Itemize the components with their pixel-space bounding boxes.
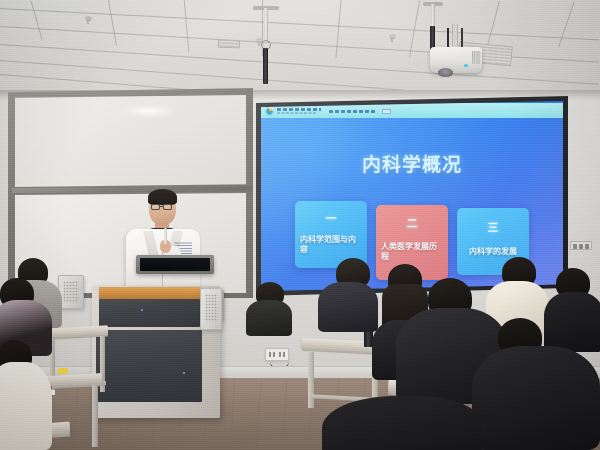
- student-body: [246, 300, 292, 336]
- projector-vent-grill: [472, 51, 481, 64]
- org-name-secondary-text: [329, 110, 375, 113]
- air-vent: [218, 40, 240, 49]
- lectern-front-panel-lower: [96, 330, 202, 402]
- university-hospital-logo-icon: [265, 107, 274, 116]
- org-name-text: [277, 108, 321, 114]
- light-switch-bank[interactable]: [570, 241, 592, 250]
- projector-lens-icon: [438, 68, 453, 77]
- slide-card-3-numeral: 三: [462, 219, 524, 235]
- lectern-indicator-led: [183, 372, 185, 374]
- student-body: [472, 346, 600, 450]
- student-body: [0, 362, 52, 450]
- org-badge: [382, 109, 391, 114]
- ceiling-mount-pole: [264, 8, 268, 42]
- projector-power-led: [464, 64, 468, 67]
- microphone[interactable]: [164, 228, 167, 244]
- student-body: [544, 292, 600, 352]
- whiteboard-glare: [120, 104, 178, 118]
- ceiling-mount-rod: [263, 48, 268, 84]
- presenter-glasses: [163, 204, 172, 210]
- lectern-indicator-led: [141, 309, 143, 311]
- podium-monitor-screen: [140, 258, 210, 271]
- student-body: [318, 282, 378, 332]
- presenter-hair: [148, 189, 177, 205]
- lectern-front-panel-upper: [99, 299, 200, 327]
- slide-card-1-text: 内科学范围与内容: [300, 235, 362, 255]
- slide-card-3-text: 内科学的发展: [462, 247, 524, 257]
- slide-card-2-text: 人类医学发展历程: [381, 242, 443, 262]
- suspended-ceiling: [0, 0, 600, 96]
- slide-card-1-numeral: 一: [300, 210, 362, 226]
- presenter-glasses: [151, 204, 160, 210]
- student-body: [322, 396, 482, 450]
- sticky-note: [58, 368, 68, 374]
- lectern-top-surface: [99, 287, 200, 299]
- slide-title: 内科学概况: [261, 150, 563, 177]
- classroom-photo: 内科学概况 一 内科学范围与内容 二 人类医学发展历程 三 内科学的发展: [0, 0, 600, 450]
- slide-card-2-numeral: 二: [381, 215, 443, 231]
